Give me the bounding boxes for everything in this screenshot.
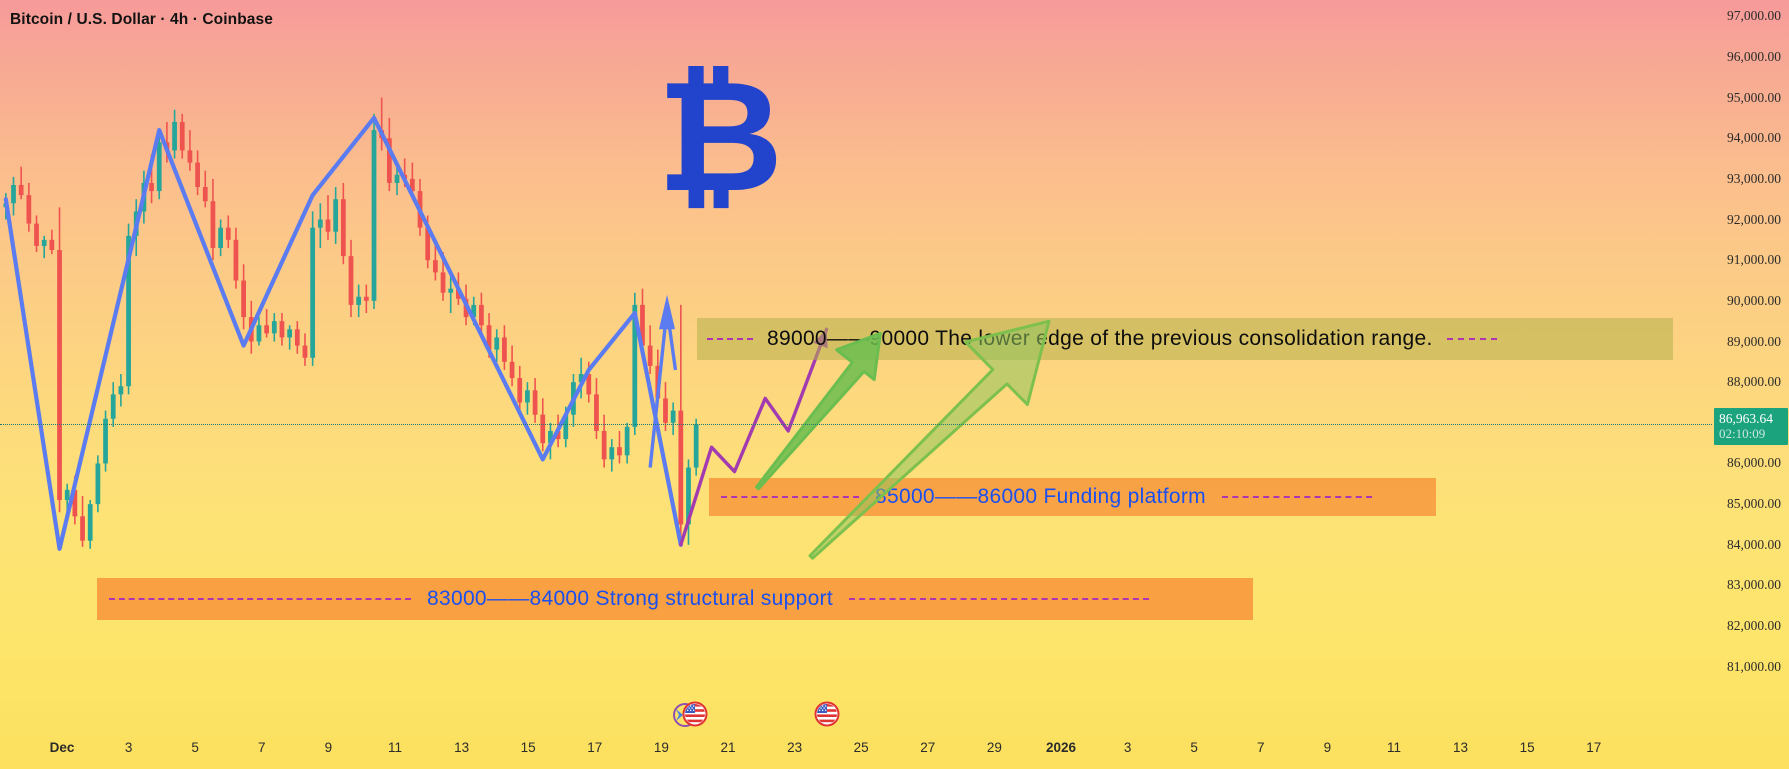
zone-lower-dash-left	[109, 598, 411, 600]
time-tick: 21	[720, 740, 735, 755]
annotation-zone-lower[interactable]: 83000——84000 Strong structural support	[97, 578, 1253, 620]
time-tick: 27	[920, 740, 935, 755]
time-tick: 11	[1387, 740, 1401, 755]
time-tick: 19	[654, 740, 669, 755]
us-economic-event-marker-1[interactable]	[672, 700, 708, 730]
time-tick: 13	[1453, 740, 1468, 755]
price-tick: 86,000.00	[1727, 455, 1781, 471]
price-tick: 88,000.00	[1727, 374, 1781, 390]
zone-mid-label: 85000——86000 Funding platform	[875, 485, 1206, 509]
price-tick: 82,000.00	[1727, 618, 1781, 634]
price-tick: 96,000.00	[1727, 49, 1781, 65]
annotation-zone-upper[interactable]: 89000——90000 The lower edge of the previ…	[697, 318, 1673, 360]
price-tick: 81,000.00	[1727, 659, 1781, 675]
price-tick: 92,000.00	[1727, 212, 1781, 228]
time-tick: 25	[854, 740, 869, 755]
price-tick: 90,000.00	[1727, 293, 1781, 309]
zone-upper-dash-left	[707, 338, 753, 340]
price-axis[interactable]: 97,000.0096,000.0095,000.0094,000.0093,0…	[1712, 0, 1789, 726]
price-tick: 91,000.00	[1727, 252, 1781, 268]
time-tick: 5	[191, 740, 199, 755]
time-tick: Dec	[50, 740, 75, 755]
current-price-value: 86,963.64	[1719, 411, 1784, 426]
price-tick: 93,000.00	[1727, 171, 1781, 187]
time-tick: 15	[521, 740, 536, 755]
zone-mid-dash-left	[721, 496, 859, 498]
price-tick: 85,000.00	[1727, 496, 1781, 512]
current-price-badge[interactable]: 86,963.64 02:10:09	[1714, 408, 1788, 445]
price-tick: 83,000.00	[1727, 577, 1781, 593]
time-axis[interactable]: Dec3579111315171921232527292026357911131…	[0, 726, 1712, 769]
time-tick: 2026	[1046, 740, 1076, 755]
zone-upper-dash-right	[1447, 338, 1497, 340]
time-tick: 17	[1586, 740, 1601, 755]
symbol-title: Bitcoin / U.S. Dollar · 4h · Coinbase	[10, 11, 273, 29]
time-tick: 7	[1257, 740, 1265, 755]
time-tick: 9	[1324, 740, 1332, 755]
time-tick: 5	[1190, 740, 1198, 755]
time-tick: 13	[454, 740, 469, 755]
time-tick: 23	[787, 740, 802, 755]
time-tick: 3	[1124, 740, 1132, 755]
time-tick: 7	[258, 740, 266, 755]
zone-lower-label: 83000——84000 Strong structural support	[427, 587, 833, 611]
time-tick: 29	[987, 740, 1002, 755]
time-tick: 9	[325, 740, 333, 755]
price-tick: 84,000.00	[1727, 537, 1781, 553]
us-economic-event-marker-2[interactable]	[812, 700, 842, 730]
tradingview-chart-screen: Bitcoin / U.S. Dollar · 4h · Coinbase ₿ …	[0, 0, 1789, 769]
current-price-line	[0, 424, 1712, 425]
current-price-countdown: 02:10:09	[1719, 426, 1784, 441]
price-tick: 97,000.00	[1727, 8, 1781, 24]
time-tick: 17	[587, 740, 602, 755]
price-tick: 95,000.00	[1727, 90, 1781, 106]
time-tick: 11	[388, 740, 402, 755]
zone-upper-label: 89000——90000 The lower edge of the previ…	[767, 327, 1433, 351]
zone-lower-dash-right	[849, 598, 1149, 600]
price-tick: 89,000.00	[1727, 334, 1781, 350]
annotation-zone-mid[interactable]: 85000——86000 Funding platform	[709, 478, 1436, 516]
time-tick: 15	[1520, 740, 1535, 755]
price-tick: 94,000.00	[1727, 130, 1781, 146]
zone-mid-dash-right	[1222, 496, 1372, 498]
time-tick: 3	[125, 740, 133, 755]
